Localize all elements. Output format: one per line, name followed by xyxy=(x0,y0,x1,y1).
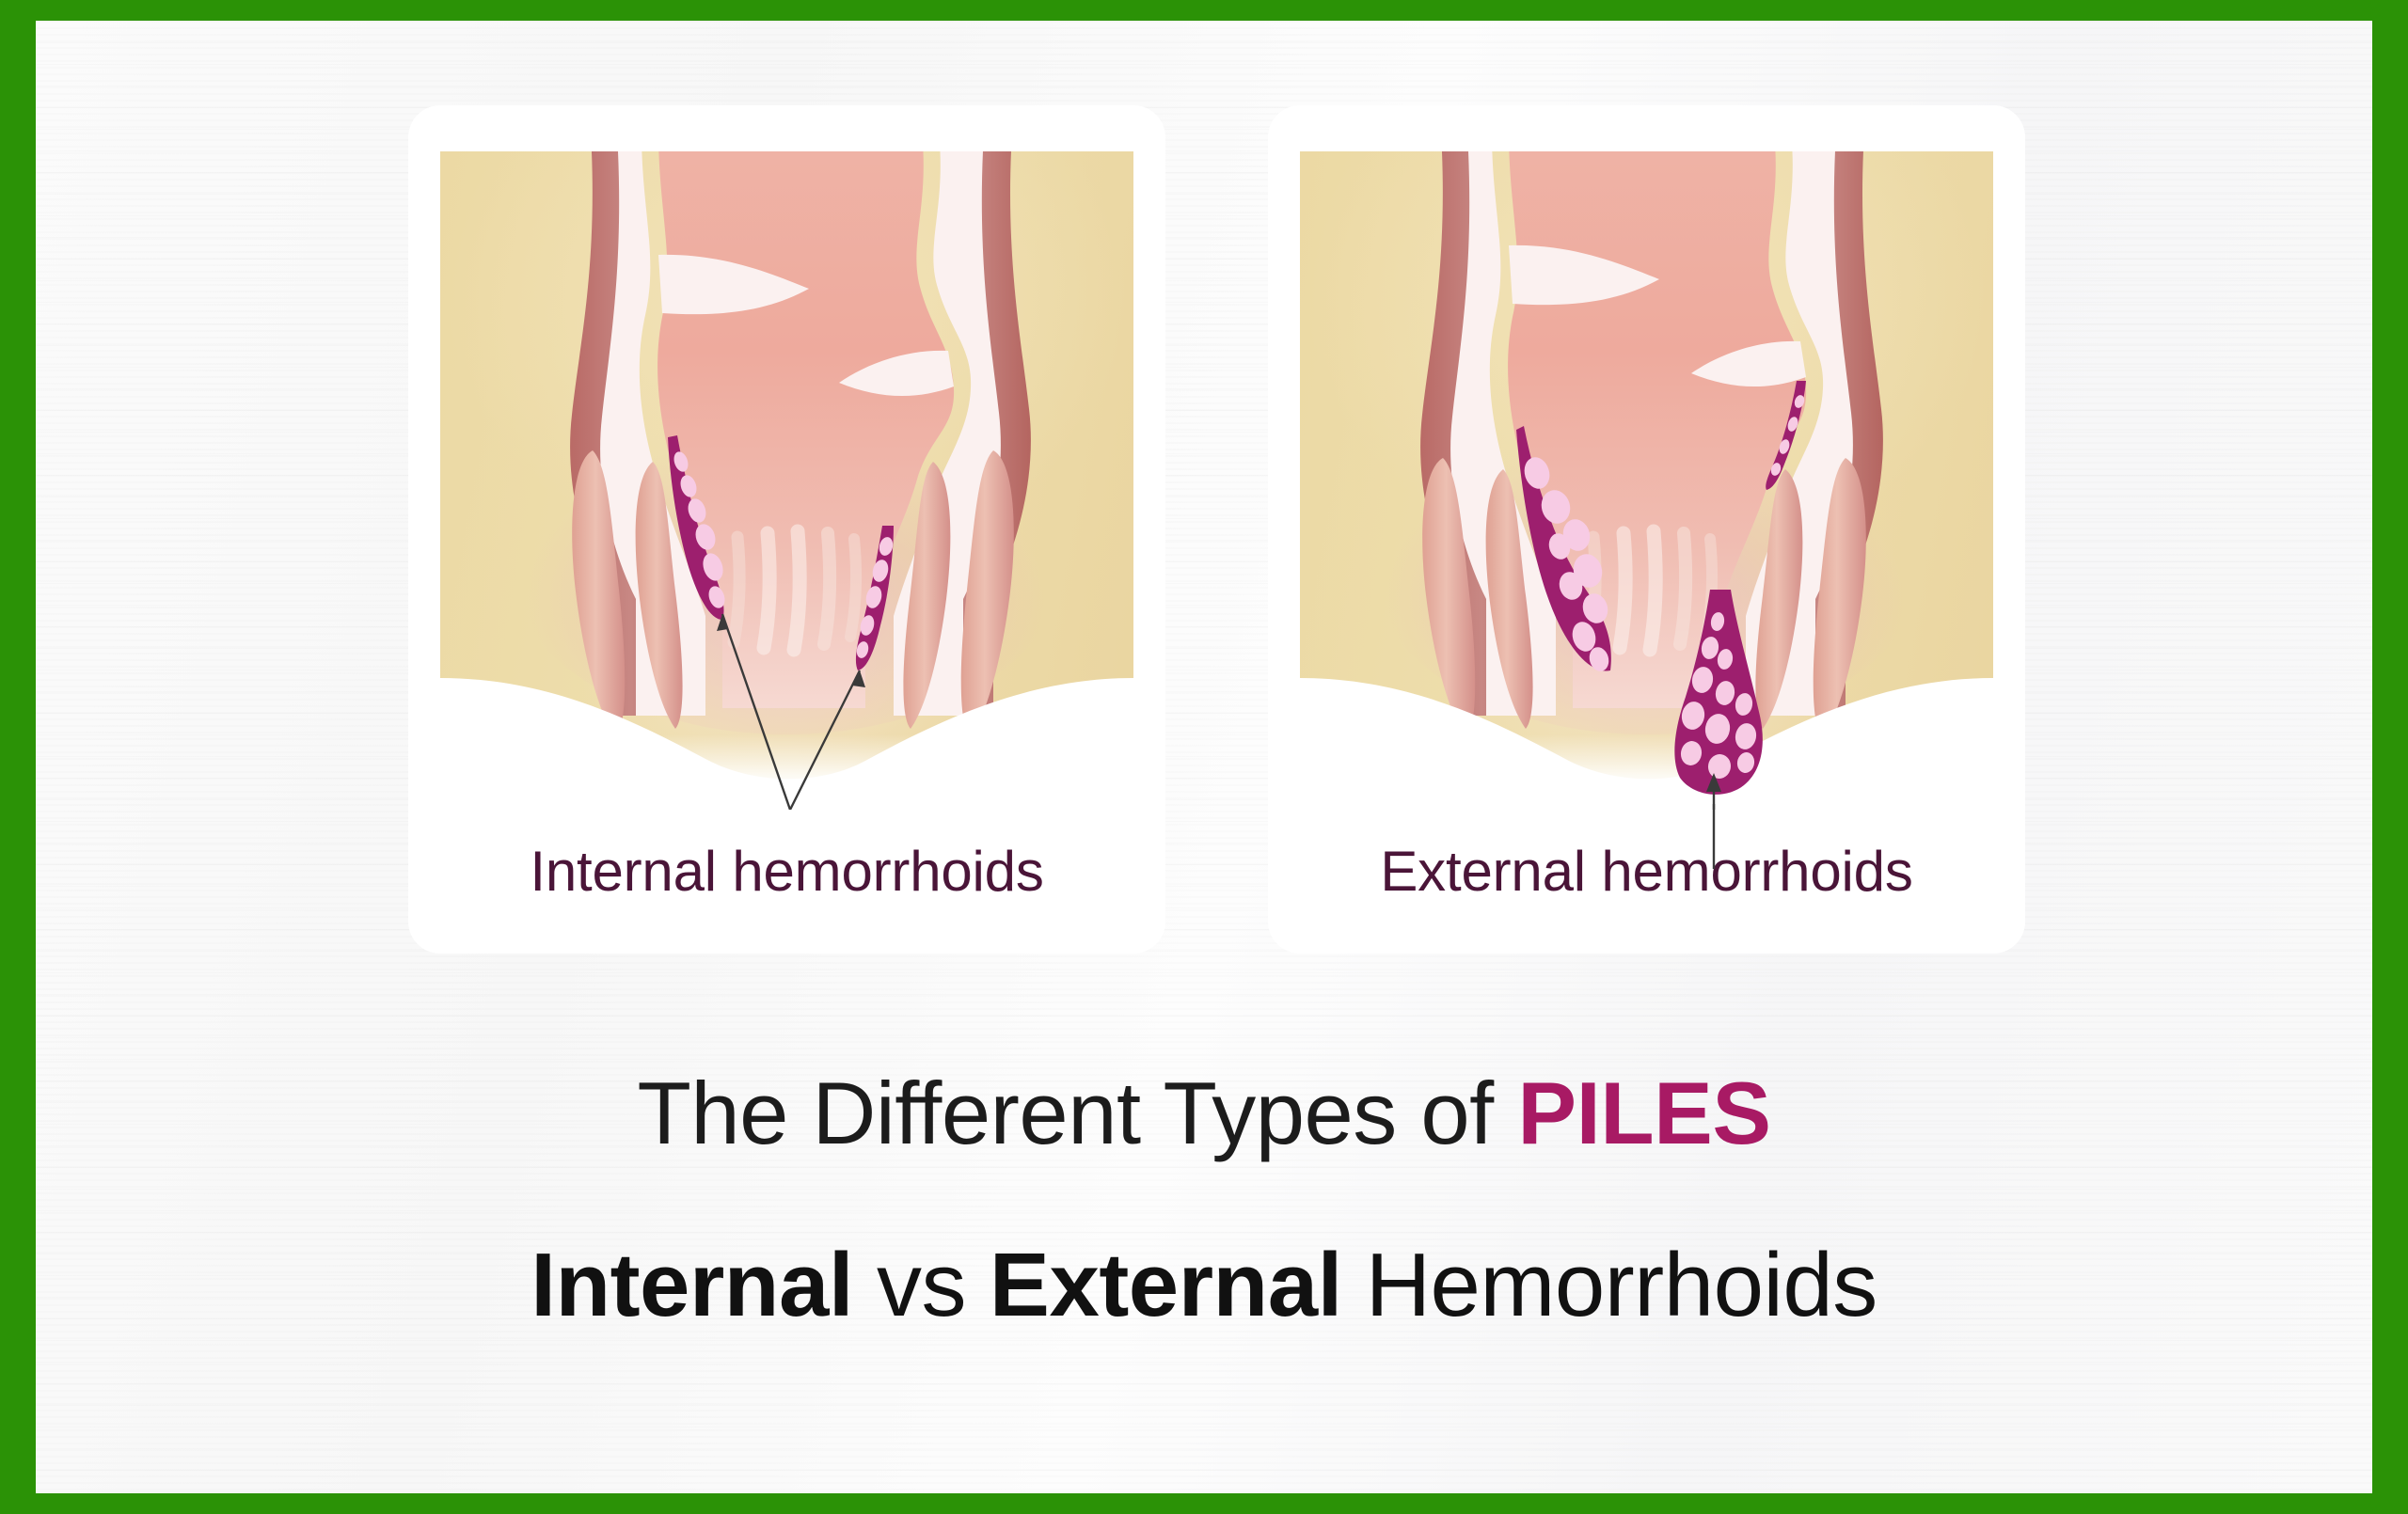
page-title: The Different Types of PILES xyxy=(36,1063,2372,1164)
internal-hemorrhoid-arrows xyxy=(440,151,1133,810)
subtitle-hemorrhoids: Hemorrhoids xyxy=(1366,1235,1877,1335)
external-hemorrhoids-diagram xyxy=(1300,151,1993,810)
internal-hemorrhoids-caption: Internal hemorrhoids xyxy=(408,839,1165,904)
subtitle-external: External xyxy=(990,1235,1342,1335)
external-hemorrhoid-arrow-stem xyxy=(1300,764,1993,876)
title-prefix: The Different Types of xyxy=(637,1064,1517,1162)
internal-hemorrhoids-diagram xyxy=(440,151,1133,810)
subtitle-vs: vs xyxy=(877,1235,966,1335)
infographic-frame: Internal hemorrhoids xyxy=(36,21,2372,1493)
title-accent: PILES xyxy=(1517,1064,1770,1162)
page-subtitle: InternalvsExternalHemorrhoids xyxy=(36,1234,2372,1337)
external-hemorrhoids-card: External hemorrhoids xyxy=(1268,105,2025,954)
subtitle-internal: Internal xyxy=(531,1235,853,1335)
internal-hemorrhoids-card: Internal hemorrhoids xyxy=(408,105,1165,954)
external-hemorrhoid-arrow xyxy=(1300,151,1993,810)
